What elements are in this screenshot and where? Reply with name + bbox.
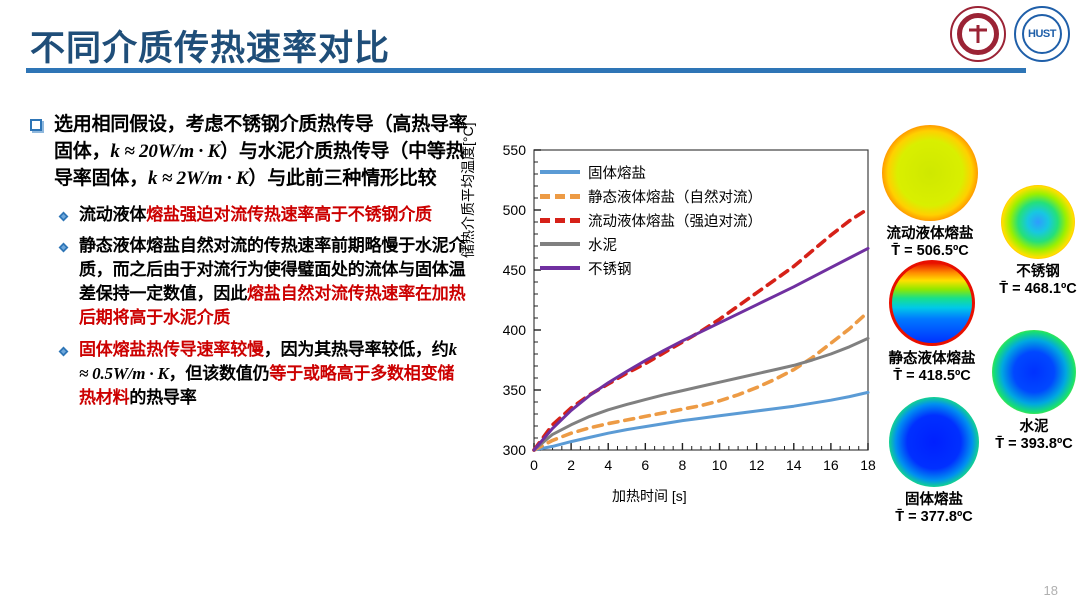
- x-tick-label: 6: [641, 457, 649, 473]
- temperature-contour-disc: [882, 125, 978, 221]
- y-tick-label: 300: [503, 442, 527, 458]
- x-tick-label: 18: [860, 457, 876, 473]
- legend-item-3: 水泥: [540, 232, 762, 256]
- diamond-bullet-icon: [58, 211, 69, 222]
- contour-panel-label: 固体熔盐: [884, 488, 984, 509]
- sub-bullet-text: 静态液体熔盐自然对流的传热速率前期略慢于水泥介质，而之后由于对流行为使得璧面处的…: [79, 234, 470, 331]
- content-text-column: 选用相同假设，考虑不锈钢介质热传导（高热导率固体，k ≈ 20W/m · K）与…: [30, 112, 470, 417]
- page-number: 18: [1044, 583, 1058, 598]
- legend-swatch-icon: [540, 194, 580, 199]
- y-tick-label: 400: [503, 322, 527, 338]
- sub-bullet-text: 固体熔盐热传导速率较慢，因为其热导率较低，约k ≈ 0.5W/m · K，但该数…: [79, 338, 470, 410]
- sub-bullet-text: 流动液体熔盐强迫对流传热速率高于不锈钢介质: [79, 203, 432, 227]
- temperature-contour-disc: [889, 260, 975, 346]
- temperature-contour-disc: [992, 330, 1076, 414]
- y-tick-label: 500: [503, 202, 527, 218]
- x-tick-label: 4: [604, 457, 612, 473]
- legend-label: 静态液体熔盐（自然对流）: [588, 186, 762, 207]
- diamond-bullet-icon: [58, 242, 69, 253]
- temperature-contour-disc: [1001, 185, 1075, 259]
- contour-panel-temperature: T̄ = 506.5ºC: [880, 243, 980, 259]
- slide-root: 不同介质传热速率对比 HUST 选用相同假设，考虑不锈钢介质热传导（高热导率固体…: [0, 0, 1080, 608]
- contour-panel-流动液体熔盐: 流动液体熔盐T̄ = 506.5ºC: [880, 125, 980, 259]
- temperature-contour-disc: [889, 397, 979, 487]
- contour-panel-temperature: T̄ = 377.8ºC: [884, 509, 984, 525]
- contour-panel-temperature: T̄ = 468.1ºC: [988, 281, 1080, 297]
- x-tick-label: 14: [786, 457, 802, 473]
- x-tick-label: 12: [749, 457, 765, 473]
- contour-panel-label: 不锈钢: [988, 260, 1080, 281]
- contour-panel-固体熔盐: 固体熔盐T̄ = 377.8ºC: [884, 397, 984, 525]
- page-title: 不同介质传热速率对比: [30, 20, 390, 71]
- sub-bullet-item: 静态液体熔盐自然对流的传热速率前期略慢于水泥介质，而之后由于对流行为使得璧面处的…: [58, 234, 470, 331]
- contour-panel-label: 静态液体熔盐: [882, 347, 982, 368]
- y-tick-label: 350: [503, 382, 527, 398]
- diamond-bullet-icon: [58, 346, 69, 357]
- highlighted-text: 熔盐强迫对流传热速率高于不锈钢介质: [146, 205, 432, 224]
- hust-logo: HUST: [1014, 6, 1070, 62]
- body-text: ）与此前三种情形比较: [248, 168, 436, 189]
- main-bullet-item: 选用相同假设，考虑不锈钢介质热传导（高热导率固体，k ≈ 20W/m · K）与…: [30, 112, 470, 193]
- math-expression: k ≈ 20W/m · K: [110, 141, 220, 162]
- contour-panel-不锈钢: 不锈钢T̄ = 468.1ºC: [988, 185, 1080, 297]
- x-tick-label: 2: [567, 457, 575, 473]
- legend-label: 流动液体熔盐（强迫对流）: [588, 210, 762, 231]
- legend-swatch-icon: [540, 218, 580, 223]
- math-expression: k ≈ 2W/m · K: [148, 168, 248, 189]
- legend-label: 不锈钢: [588, 258, 632, 279]
- contour-panel-temperature: T̄ = 418.5ºC: [882, 368, 982, 384]
- highlighted-text: 固体熔盐热传导速率较慢: [79, 340, 264, 359]
- legend-item-2: 流动液体熔盐（强迫对流）: [540, 208, 762, 232]
- legend-item-0: 固体熔盐: [540, 160, 762, 184]
- chart-legend: 固体熔盐静态液体熔盐（自然对流）流动液体熔盐（强迫对流）水泥不锈钢: [540, 160, 762, 280]
- body-text: 的热导率: [129, 388, 196, 407]
- sub-bullet-item: 流动液体熔盐强迫对流传热速率高于不锈钢介质: [58, 203, 470, 227]
- x-tick-label: 10: [712, 457, 728, 473]
- contour-panel-label: 水泥: [984, 415, 1080, 436]
- x-tick-label: 0: [530, 457, 538, 473]
- legend-swatch-icon: [540, 170, 580, 174]
- square-bullet-icon: [30, 119, 42, 131]
- legend-item-1: 静态液体熔盐（自然对流）: [540, 184, 762, 208]
- peking-university-logo: [950, 6, 1006, 62]
- contour-panel-label: 流动液体熔盐: [880, 222, 980, 243]
- legend-label: 固体熔盐: [588, 162, 646, 183]
- logo-group: HUST: [950, 6, 1070, 62]
- title-underline-rule: [26, 68, 1026, 73]
- chart-x-axis-label: 加热时间 [s]: [612, 486, 687, 506]
- contour-panel-temperature: T̄ = 393.8ºC: [984, 436, 1080, 452]
- legend-item-4: 不锈钢: [540, 256, 762, 280]
- contour-panel-静态液体熔盐: 静态液体熔盐T̄ = 418.5ºC: [882, 260, 982, 384]
- contour-panel-group: 流动液体熔盐T̄ = 506.5ºC不锈钢T̄ = 468.1ºC静态液体熔盐T…: [876, 125, 1080, 565]
- body-text: ，但该数值仍: [169, 364, 270, 383]
- legend-label: 水泥: [588, 234, 617, 255]
- contour-panel-水泥: 水泥T̄ = 393.8ºC: [984, 330, 1080, 452]
- x-tick-label: 8: [679, 457, 687, 473]
- temperature-chart: 储热介质平均温度[°C] 300350400450500550024681012…: [462, 138, 882, 518]
- legend-swatch-icon: [540, 266, 580, 270]
- sub-bullet-item: 固体熔盐热传导速率较慢，因为其热导率较低，约k ≈ 0.5W/m · K，但该数…: [58, 338, 470, 410]
- legend-swatch-icon: [540, 242, 580, 246]
- body-text: 流动液体: [79, 205, 146, 224]
- body-text: ，因为其热导率较低，约: [264, 340, 449, 359]
- main-bullet-text: 选用相同假设，考虑不锈钢介质热传导（高热导率固体，k ≈ 20W/m · K）与…: [54, 112, 470, 193]
- y-tick-label: 450: [503, 262, 527, 278]
- x-tick-label: 16: [823, 457, 839, 473]
- sub-bullet-list: 流动液体熔盐强迫对流传热速率高于不锈钢介质静态液体熔盐自然对流的传热速率前期略慢…: [58, 203, 470, 410]
- y-tick-label: 550: [503, 142, 527, 158]
- hust-logo-text: HUST: [1028, 28, 1056, 40]
